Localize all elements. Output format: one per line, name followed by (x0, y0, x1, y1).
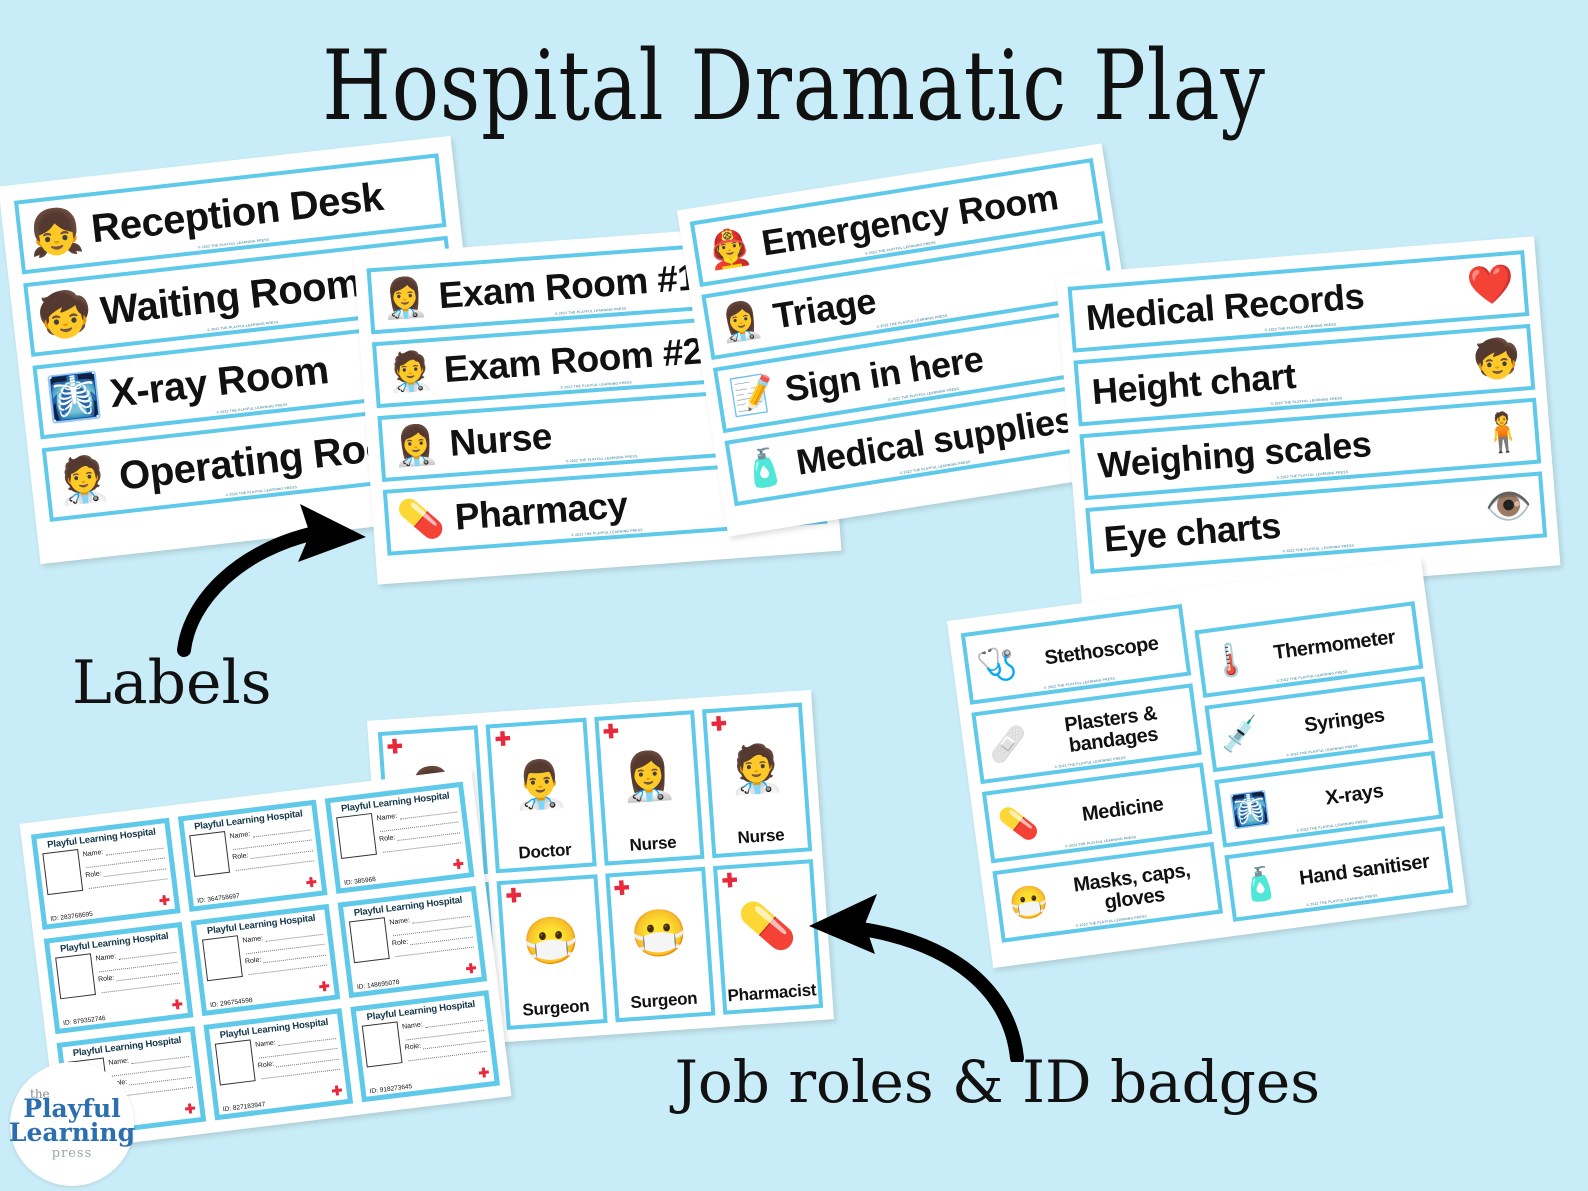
red-cross-icon: ✚ (318, 979, 330, 993)
caption-labels: Labels (72, 648, 272, 718)
copyright-text: © 2022 THE PLAYFUL LEARNING PRESS (1065, 835, 1137, 848)
badge-id-number: ID: 879352746 (63, 1015, 106, 1027)
copyright-text: © 2022 THE PLAYFUL LEARNING PRESS (876, 314, 947, 329)
copyright-text: © 2022 THE PLAYFUL LEARNING PRESS (207, 320, 279, 332)
girl-at-desk-icon: 👧 (25, 199, 88, 267)
badge-name-label: Name: (95, 953, 116, 962)
badge-name-label: Name: (229, 830, 250, 839)
red-cross-icon: ✚ (602, 722, 619, 742)
badge-name-label: Name: (255, 1039, 276, 1048)
red-cross-icon: ✚ (305, 875, 317, 889)
job-role-card[interactable]: ✚ 😷 Surgeon (605, 867, 715, 1023)
copyright-text: © 2022 THE PLAYFUL LEARNING PRESS (1296, 819, 1368, 832)
badge-fields: Name: Role: (242, 925, 328, 977)
badge-id-number: ID: 918273645 (369, 1083, 412, 1095)
badge-photo-placeholder (336, 813, 377, 859)
equipment-label: Stethoscope (1025, 631, 1179, 672)
equipment-label: Plasters & bandages (1034, 700, 1191, 761)
label-text: Exam Room #2 (443, 330, 705, 391)
red-cross-icon: ✚ (505, 887, 522, 907)
red-cross-icon: ✚ (465, 961, 477, 975)
male-surgeon-icon: 😷 (626, 872, 691, 993)
copyright-text: © 2022 THE PLAYFUL LEARNING PRESS (198, 238, 270, 250)
id-badge[interactable]: Playful Learning Hospital Name: Role: (350, 990, 500, 1102)
badge-role-label: Role: (257, 1060, 274, 1069)
badge-role-label: Role: (232, 852, 249, 861)
job-role-card[interactable]: ✚ 🧑‍⚕️ Nurse (702, 703, 812, 859)
xray-film-icon: 🩻 (43, 364, 106, 432)
label-text: Height chart (1090, 355, 1297, 413)
copyright-text: © 2022 THE PLAYFUL LEARNING PRESS (1286, 744, 1358, 757)
male-doctor-icon: 👨‍⚕️ (508, 723, 573, 844)
badge-role-label: Role: (392, 938, 409, 947)
id-badge[interactable]: Playful Learning Hospital Name: Role: (44, 922, 194, 1034)
brand-logo-press: press (52, 1146, 93, 1161)
label-text: Exam Room #1 (437, 256, 699, 317)
badge-name-label: Name: (108, 1057, 129, 1066)
female-surgeon-icon: 😷 (518, 880, 583, 1001)
equipment-label: Hand sanitiser (1287, 850, 1441, 891)
label-text: Eye charts (1102, 505, 1282, 561)
badge-name-label: Name: (82, 848, 103, 857)
badge-id-number: ID: 364758697 (197, 893, 240, 905)
badge-role-label: Role: (245, 956, 262, 965)
badge-id-number: ID: 385968 (344, 876, 376, 887)
red-cross-icon: ✚ (721, 871, 738, 891)
label-text: Waiting Room (98, 260, 363, 334)
red-cross-icon: ✚ (184, 1102, 196, 1116)
stethoscope-icon: 🩺 (971, 636, 1023, 694)
child-height-measure-icon: 🧒 (1469, 330, 1525, 390)
badge-photo-placeholder (362, 1021, 403, 1067)
badge-id-number: ID: 283768695 (50, 911, 93, 923)
badge-fields: Name: Role: (82, 839, 168, 891)
page-title: Hospital Dramatic Play (143, 30, 1445, 142)
paramedic-boy-icon: 🧑‍🚒 (700, 217, 758, 280)
doctor-examining-girl-icon: 👩‍⚕️ (377, 269, 433, 329)
copyright-text: © 2022 THE PLAYFUL LEARNING PRESS (566, 454, 638, 463)
badge-name-label: Name: (376, 812, 397, 821)
red-cross-icon: ✚ (331, 1084, 343, 1098)
red-cross-icon: ✚ (158, 893, 170, 907)
label-text: Sign in here (782, 338, 986, 411)
pharmacist-counter-icon: 💊 (393, 490, 449, 550)
syringe-icon: 💉 (1214, 706, 1266, 764)
badge-fields: Name: Role: (389, 907, 475, 959)
badge-photo-placeholder (42, 849, 83, 895)
thermometer-icon: 🌡️ (1204, 631, 1256, 689)
badge-role-label: Role: (85, 870, 102, 879)
badge-name-label: Name: (389, 917, 410, 926)
label-text: Nurse (448, 415, 553, 464)
equipment-column-right: 🌡️ Thermometer © 2022 THE PLAYFUL LEARNI… (1190, 573, 1453, 922)
copyright-text: © 2022 THE PLAYFUL LEARNING PRESS (1282, 544, 1354, 554)
red-cross-icon: ✚ (386, 738, 403, 758)
job-role-label: Surgeon (630, 989, 698, 1014)
caption-job-roles: Job roles & ID badges (675, 1048, 1320, 1116)
label-text: Weighing scales (1096, 423, 1372, 487)
badge-id-number: ID: 827183947 (223, 1101, 266, 1113)
id-badge[interactable]: Playful Learning Hospital Name: Role: (325, 782, 475, 894)
equipment-label: Medicine (1046, 789, 1200, 830)
red-cross-icon: ✚ (710, 715, 727, 735)
id-badge[interactable]: Playful Learning Hospital Name: Role: (31, 818, 181, 930)
pharmacist-icon: 💊 (734, 865, 799, 986)
red-cross-icon: ✚ (171, 997, 183, 1011)
job-role-label: Doctor (518, 840, 572, 864)
red-cross-icon: ✚ (613, 879, 630, 899)
id-badge[interactable]: Playful Learning Hospital Name: Role: (178, 800, 328, 912)
label-sheet-rooms-4[interactable]: Medical Records ❤️ © 2022 THE PLAYFUL LE… (1056, 236, 1561, 603)
equipment-label: X-rays (1277, 775, 1431, 816)
surgeon-icon: 🧑‍⚕️ (52, 447, 115, 515)
badge-fields: Name: Role: (255, 1029, 341, 1081)
xray-film-icon: 🩻 (1224, 781, 1276, 839)
badge-id-number: ID: 296754598 (210, 997, 253, 1009)
child-on-scales-icon: 🧍 (1475, 403, 1531, 463)
male-nurse-icon: 🧑‍⚕️ (724, 708, 789, 829)
copyright-text: © 2022 THE PLAYFUL LEARNING PRESS (1306, 894, 1378, 907)
badge-photo-placeholder (189, 831, 230, 877)
id-badge[interactable]: Playful Learning Hospital Name: Role: (191, 904, 341, 1016)
badge-role-label: Role: (98, 974, 115, 983)
two-nurses-icon: 👩‍⚕️ (388, 417, 444, 477)
badge-photo-placeholder (55, 953, 96, 999)
badge-fields: Name: Role: (401, 1011, 487, 1063)
red-cross-icon: ✚ (478, 1066, 490, 1080)
brand-logo: the Playful Learning press (10, 1062, 134, 1186)
job-role-card[interactable]: ✚ 👩‍⚕️ Nurse (594, 710, 704, 866)
arrow-to-job-roles-icon (795, 862, 1055, 1062)
badge-role-label: Role: (404, 1042, 421, 1051)
nurse-clipboard-icon: 👩‍⚕️ (712, 290, 770, 353)
job-role-label: Nurse (737, 825, 785, 848)
badge-photo-placeholder (202, 935, 243, 981)
medicine-bottles-icon: 💊 (992, 795, 1044, 853)
job-role-label: Nurse (629, 833, 677, 856)
badge-photo-placeholder (215, 1039, 256, 1085)
copyright-text: © 2022 THE PLAYFUL LEARNING PRESS (1076, 914, 1148, 927)
badge-fields: Name: Role: (95, 943, 181, 995)
badge-name-label: Name: (402, 1021, 423, 1030)
bandage-icon: 🩹 (982, 715, 1034, 773)
label-text: Triage (770, 280, 878, 338)
equipment-label: Syringes (1267, 700, 1421, 741)
equipment-label: Thermometer (1257, 625, 1411, 666)
sanitiser-bandage-icon: 🧴 (735, 437, 793, 500)
red-cross-icon: ✚ (494, 730, 511, 750)
brand-logo-line2: Learning (9, 1121, 135, 1145)
heart-pulse-icon: ❤️ (1463, 256, 1519, 316)
label-text: Medical Records (1084, 275, 1365, 339)
sanitiser-pump-icon: 🧴 (1234, 855, 1286, 913)
seated-child-icon: 🧒 (34, 282, 97, 350)
id-badge[interactable]: Playful Learning Hospital Name: Role: (338, 886, 488, 998)
badge-role-label: Role: (379, 834, 396, 843)
poster-canvas: Hospital Dramatic Play 👧 Reception Desk … (0, 0, 1588, 1191)
copyright-text: © 2022 THE PLAYFUL LEARNING PRESS (1054, 756, 1126, 769)
copyright-text: © 2022 THE PLAYFUL LEARNING PRESS (1276, 669, 1348, 682)
doctor-examining-boy-icon: 🧑‍⚕️ (382, 343, 438, 403)
blonde-nurse-icon: 👩‍⚕️ (616, 716, 681, 837)
job-role-card[interactable]: ✚ 😷 Surgeon (497, 874, 607, 1030)
badge-photo-placeholder (349, 917, 390, 963)
job-role-card[interactable]: ✚ 👨‍⚕️ Doctor (486, 718, 596, 874)
id-badge[interactable]: Playful Learning Hospital Name: Role: (203, 1008, 353, 1120)
arrow-to-labels-icon (150, 490, 380, 670)
red-cross-icon: ✚ (452, 857, 464, 871)
copyright-text: © 2022 THE PLAYFUL LEARNING PRESS (1044, 676, 1116, 689)
badge-fields: Name: Role: (376, 803, 462, 855)
label-text: X-ray Room (108, 348, 331, 417)
badge-name-label: Name: (242, 935, 263, 944)
sign-in-book-icon: 📝 (724, 364, 782, 427)
badge-fields: Name: Role: (229, 821, 315, 873)
badge-id-number: ID: 148695078 (357, 979, 400, 991)
job-role-label: Surgeon (522, 996, 590, 1021)
eye-icon: 👁️ (1480, 477, 1536, 537)
equipment-label: Masks, caps, gloves (1055, 858, 1212, 919)
copyright-text: © 2022 THE PLAYFUL LEARNING PRESS (216, 403, 288, 415)
